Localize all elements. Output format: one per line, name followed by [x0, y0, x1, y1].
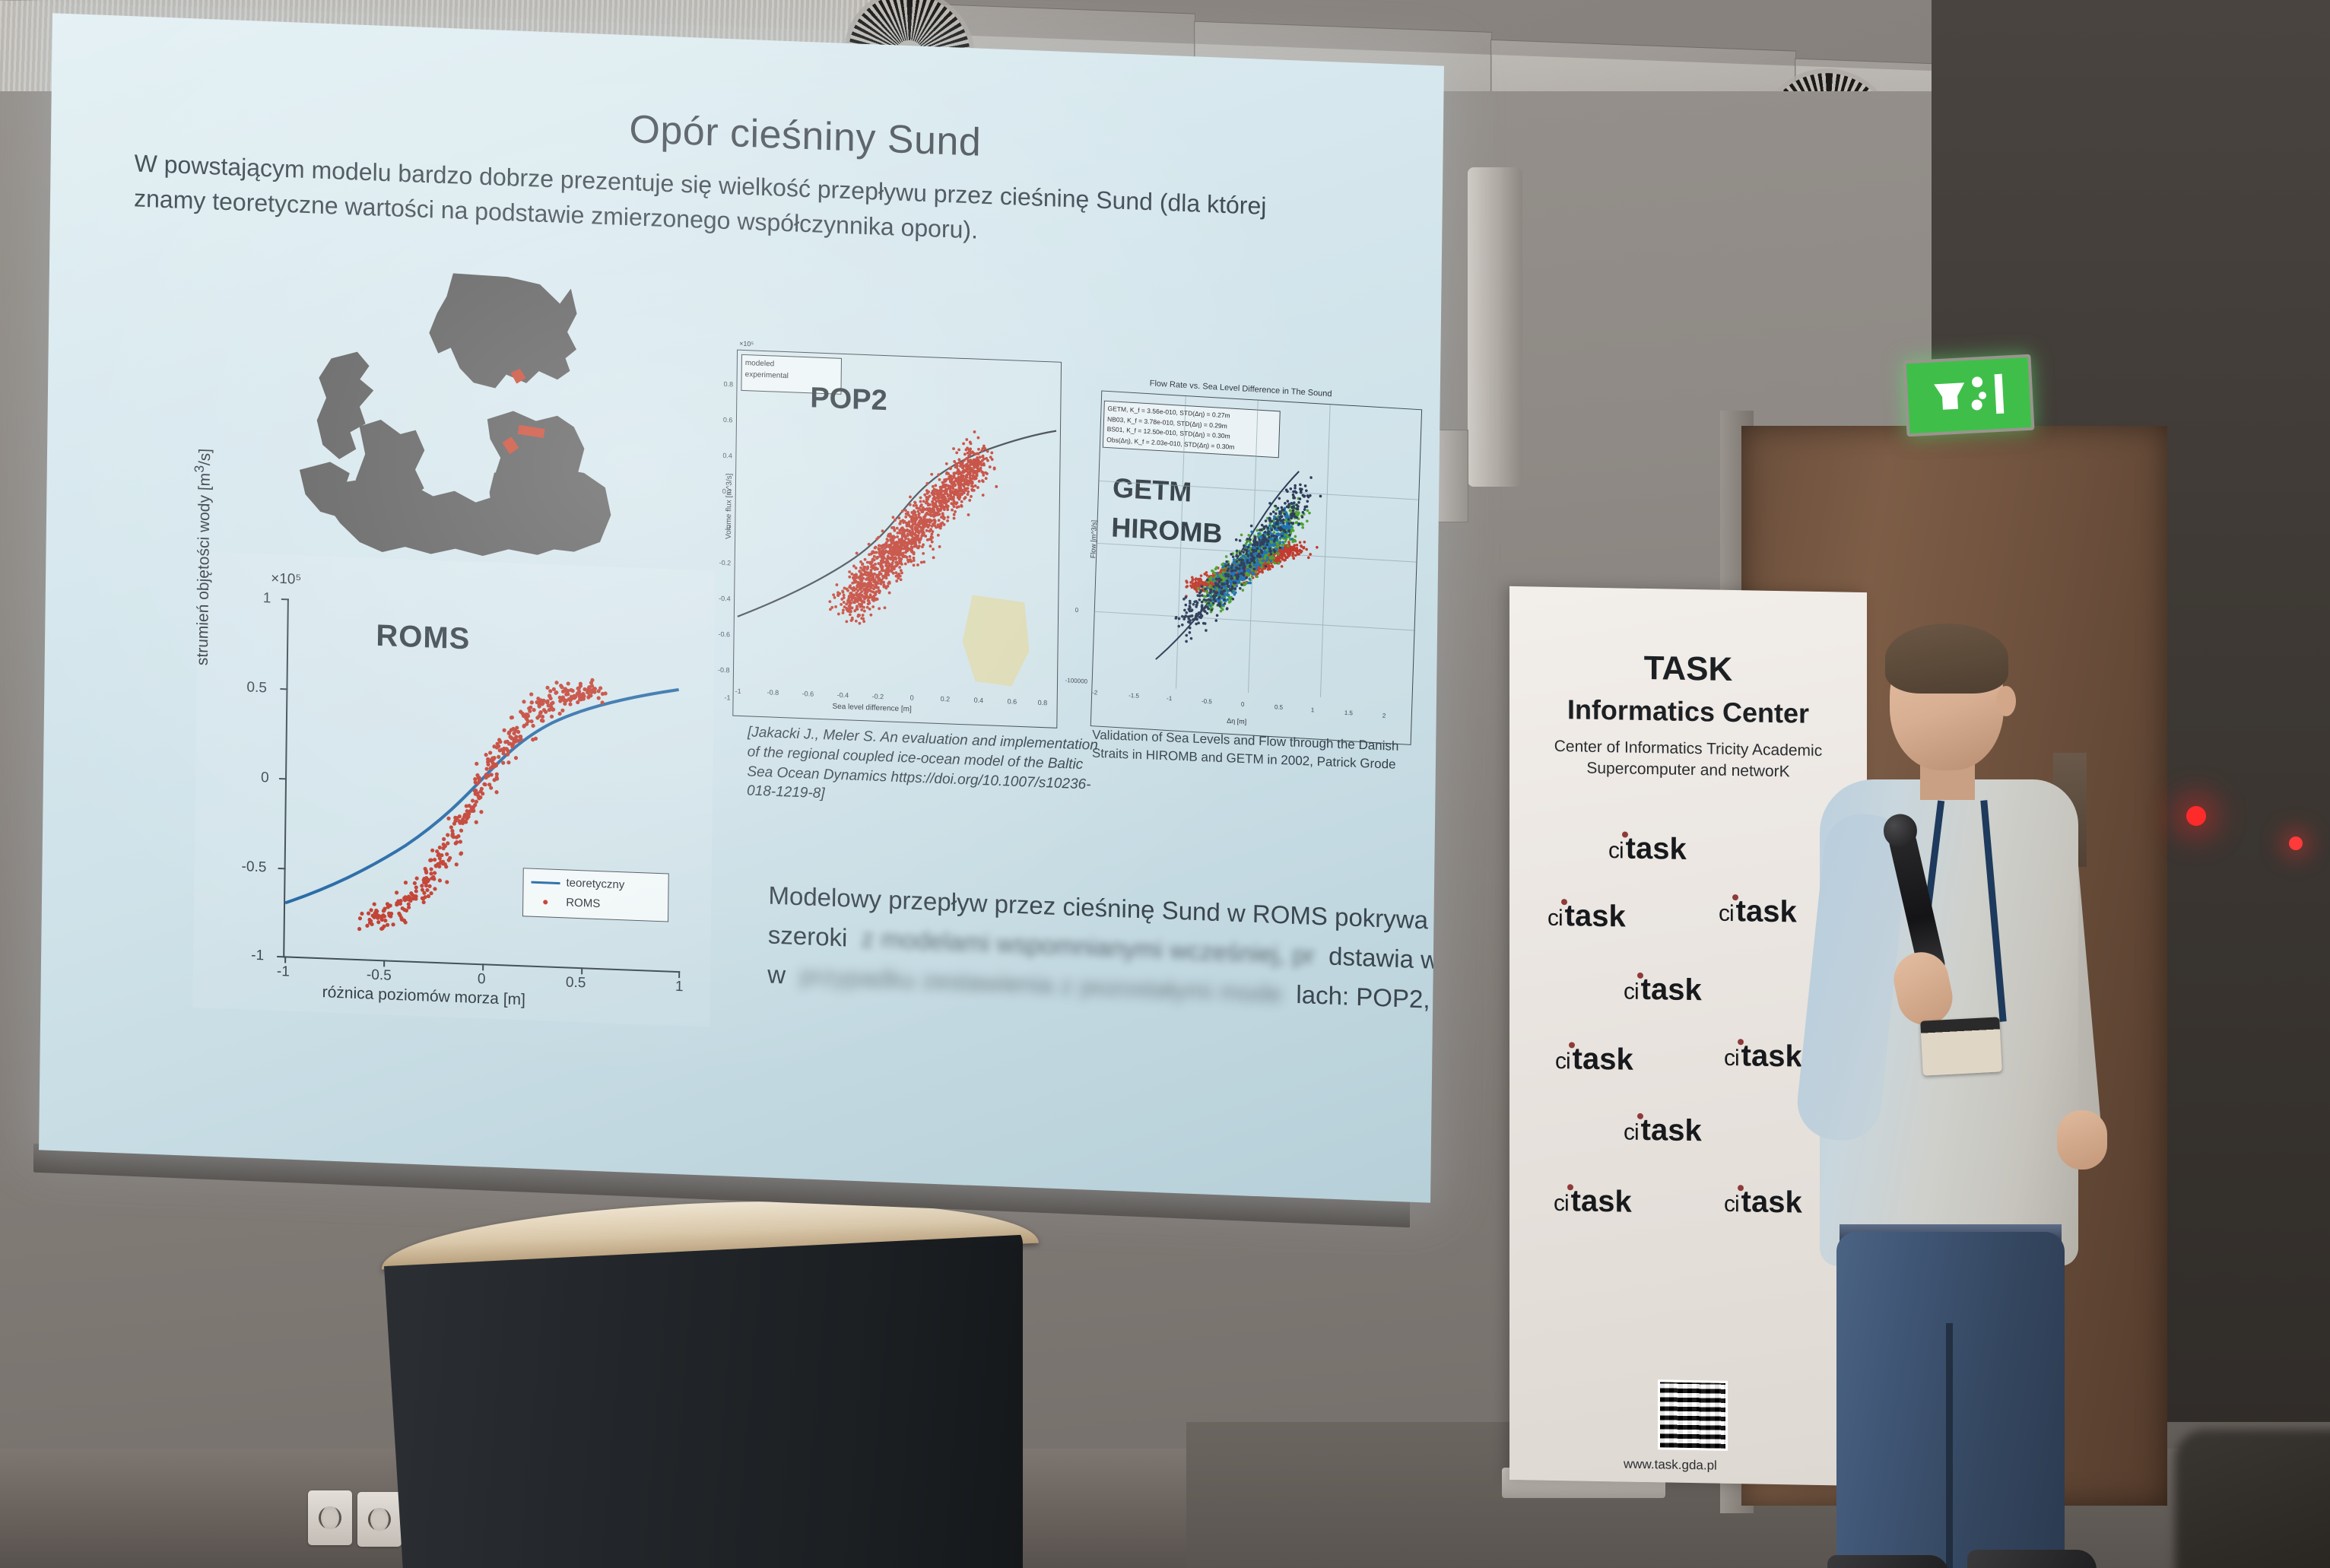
roms-y-exponent: ×10⁵	[271, 570, 301, 589]
presenter-jeans	[1836, 1232, 2065, 1568]
slide-title: Opór cieśniny Sund	[629, 106, 982, 166]
bottom-text-line-2-start: szeroki	[768, 921, 848, 952]
presenter-shoe	[1967, 1550, 2097, 1568]
presenter-hand	[2057, 1110, 2107, 1170]
citask-logo-task: task	[1565, 899, 1626, 933]
baltic-sea-map	[289, 267, 620, 576]
bottom-text-line-3-start: w	[767, 960, 786, 989]
citask-logo: citask	[1548, 899, 1626, 935]
pop2-xtick: -0.6	[802, 690, 814, 698]
running-man-icon	[1969, 373, 2005, 417]
pop2-ytick: -0.6	[719, 630, 731, 639]
slide-body-text: W powstającym modelu bardzo dobrze preze…	[134, 145, 1321, 261]
citask-logo-task: task	[1741, 1185, 1802, 1219]
getm-xtick: 2	[1382, 713, 1386, 719]
pop2-ytick: 0.8	[723, 380, 733, 388]
roms-x-axis-label: różnica poziomów morza [m]	[322, 983, 526, 1009]
getm-x-axis-label: Δη [m]	[1227, 717, 1246, 726]
citask-logo-ci: ci	[1624, 979, 1639, 1005]
roms-xtick: 1	[675, 979, 684, 995]
pop2-xtick: -1	[735, 687, 741, 695]
pop2-ytick: -0.2	[719, 559, 732, 567]
foreground-object	[2175, 1430, 2330, 1568]
citask-logo-ci: ci	[1624, 1120, 1639, 1145]
podium	[384, 1224, 1023, 1568]
pop2-xtick: 0.6	[1008, 697, 1017, 705]
roms-ytick: 0.5	[246, 679, 267, 697]
pop2-ytick: 0	[726, 523, 730, 531]
citask-logo: citask	[1624, 973, 1702, 1008]
citask-logo: citask	[1724, 1039, 1802, 1074]
legend-dot-swatch	[543, 900, 548, 904]
emergency-exit-icon	[1903, 354, 2034, 437]
citask-logo-ci: ci	[1724, 1192, 1739, 1217]
pop2-ytick: 0.2	[722, 487, 732, 495]
presenter-hair	[1885, 624, 2008, 694]
citask-logo: citask	[1554, 1184, 1632, 1220]
power-socket[interactable]	[357, 1492, 402, 1547]
getm-ytick: -100000	[1065, 677, 1088, 685]
citask-logo-task: task	[1573, 1042, 1633, 1076]
pop2-xtick: -0.8	[767, 688, 779, 697]
presenter-badge	[1920, 1017, 2002, 1075]
slide-citation: [Jakacki J., Meler S. An evaluation and …	[747, 722, 1105, 814]
pop2-xtick: -0.4	[837, 691, 849, 700]
citask-logo: citask	[1719, 894, 1797, 930]
roms-ytick: -1	[251, 947, 264, 965]
pop2-ytick: -0.4	[719, 595, 731, 603]
wall-pipe-column	[1468, 167, 1522, 487]
citask-logo-ci: ci	[1554, 1191, 1569, 1216]
citask-logo: citask	[1724, 1185, 1802, 1220]
pop2-xtick: -0.2	[872, 693, 884, 701]
down-arrow-icon	[1934, 382, 1966, 410]
red-indicator-light	[2186, 806, 2206, 826]
roms-ytick: -0.5	[241, 859, 266, 876]
qr-code-icon	[1658, 1379, 1728, 1451]
citask-logo-ci: ci	[1555, 1049, 1570, 1074]
citask-logo: citask	[1624, 1113, 1702, 1149]
slide-bottom-text: Modelowy przepływ przez cieśninę Sund w …	[767, 876, 1392, 1019]
projection-screen: Opór cieśniny Sund W powstającym modelu …	[39, 13, 1444, 1203]
roms-xtick: 0	[478, 971, 486, 988]
pop2-xtick: 0	[910, 694, 914, 701]
pop2-x-axis-label: Sea level difference [m]	[832, 703, 911, 714]
pop2-xtick: 0.8	[1038, 699, 1048, 706]
getm-ytick: 0	[1075, 607, 1079, 614]
bottom-text-line-3-end: lach: POP2, GETM i	[1296, 980, 1444, 1017]
power-socket[interactable]	[308, 1490, 352, 1545]
presenter	[1806, 624, 2103, 1566]
citask-logo-task: task	[1641, 973, 1702, 1007]
legend-label-teoretyczny: teoretyczny	[566, 876, 624, 891]
citask-logo-task: task	[1641, 1113, 1702, 1147]
presenter-ear	[1996, 686, 2016, 716]
chart-getm-hiromb: Flow Rate vs. Sea Level Difference in Th…	[1090, 390, 1422, 744]
citask-logo-ci: ci	[1548, 906, 1563, 931]
citask-logo: citask	[1555, 1042, 1633, 1078]
chart-roms: ×10⁵ ROMS strumień objętości wody [m3/s]…	[192, 551, 715, 1027]
citask-logo-ci: ci	[1724, 1046, 1739, 1071]
chart-pop2: ×10⁵ modeled experimental POP2 Volume fl…	[732, 350, 1062, 728]
legend-line-swatch	[532, 881, 560, 884]
pop2-ytick: 0.6	[723, 416, 733, 424]
citask-logo-ci: ci	[1608, 838, 1624, 863]
citask-logo-ci: ci	[1719, 901, 1734, 926]
citask-logo-task: task	[1741, 1039, 1802, 1073]
roms-y-axis-label: strumień objętości wody [m3/s]	[189, 448, 214, 665]
photo-scene: Opór cieśniny Sund W powstającym modelu …	[0, 0, 2330, 1568]
pop2-ytick: -1	[725, 694, 731, 701]
banner-url: www.task.gda.pl	[1624, 1457, 1717, 1474]
citask-logo-task: task	[1571, 1184, 1632, 1218]
presenter-shoe	[1827, 1555, 1949, 1568]
pop2-ytick: 0.4	[722, 452, 732, 459]
pop2-xtick: 0.2	[941, 695, 951, 703]
pop2-ytick: -0.8	[718, 666, 730, 674]
red-indicator-light	[2289, 836, 2303, 850]
roms-xtick: 0.5	[566, 974, 586, 992]
pop2-y-exponent: ×10⁵	[739, 340, 754, 348]
roms-legend: teoretyczny ROMS	[522, 868, 669, 922]
getm-plot-area	[1092, 392, 1421, 714]
roms-ytick: 1	[263, 590, 271, 607]
citask-logo-task: task	[1626, 832, 1687, 866]
slide: Opór cieśniny Sund W powstającym modelu …	[39, 13, 1444, 1203]
roms-ytick: 0	[261, 770, 269, 786]
citask-logo-task: task	[1736, 894, 1797, 928]
roms-xtick: -0.5	[367, 967, 392, 984]
citask-logo: citask	[1608, 831, 1687, 867]
roms-xtick: -1	[277, 963, 290, 981]
pop2-xtick: 0.4	[974, 697, 984, 704]
legend-label-roms: ROMS	[566, 896, 600, 910]
